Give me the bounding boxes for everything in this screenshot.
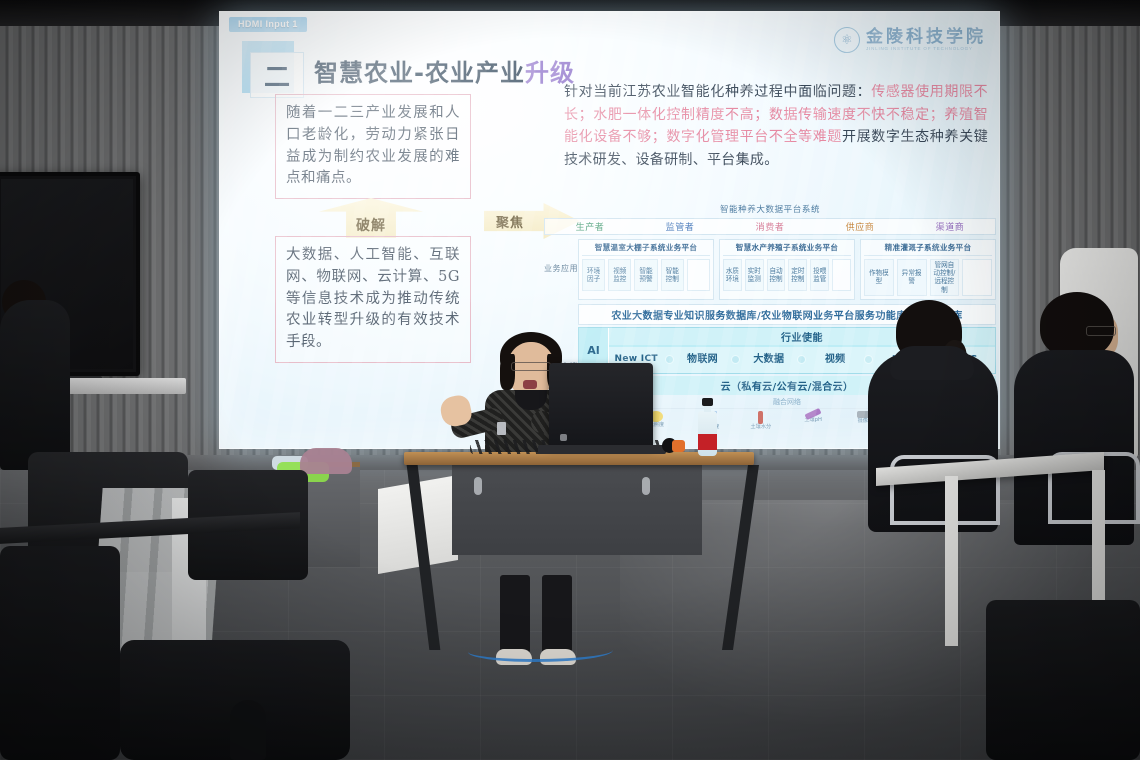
student-desk-leg-a [945, 476, 958, 646]
laptop-label [560, 434, 567, 441]
foreground-chair-far-left [0, 546, 120, 760]
presenter-hair-left [500, 354, 515, 390]
presenter-badge [497, 422, 506, 435]
student-a-hood [890, 346, 974, 380]
presenter-mouth [523, 380, 537, 389]
laptop-base[interactable] [538, 445, 666, 454]
bottle-neck [704, 405, 711, 412]
desk-modesty-panel [452, 465, 702, 555]
chair-armrest-post [230, 700, 266, 760]
microphone-body [672, 440, 685, 452]
bottle-label [698, 434, 717, 450]
student-left [0, 300, 70, 470]
presenter-glasses [511, 362, 551, 371]
photo-scene: HDMI Input 1 二 智慧农业-农业产业升级 ⚛ 金陵科技学院 JINL… [0, 0, 1140, 760]
student-b-hair [1040, 292, 1114, 358]
foreground-chair-bottom-right [986, 600, 1140, 760]
student-desk-leg-b [1092, 470, 1105, 620]
student-b-glasses [1086, 326, 1116, 336]
desk-hook-left [474, 477, 482, 495]
pink-bag [300, 448, 352, 474]
desk-hook-right [642, 477, 650, 495]
bottle-cap [702, 398, 713, 406]
water-bottle [698, 398, 717, 456]
